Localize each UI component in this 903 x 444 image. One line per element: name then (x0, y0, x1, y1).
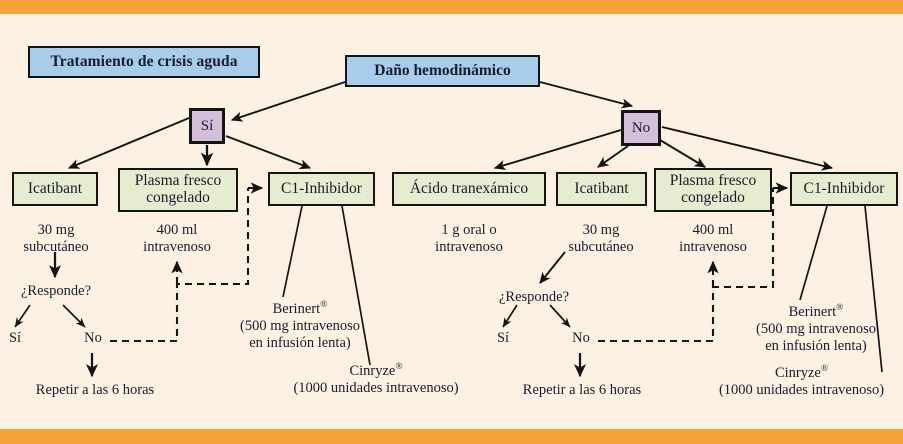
dose-plasma-right: 400 ml intravenoso (663, 222, 763, 256)
berinert-name-row: Berinert® (215, 301, 385, 318)
treatment-box-c1-inhibidor-left: C1-Inhibidor (268, 172, 375, 206)
edge-no-to-plasma (660, 140, 705, 167)
dose-plasma-left: 400 ml intravenoso (127, 222, 227, 256)
treatment-label-line1: Plasma fresco (670, 173, 757, 190)
edge-responde-no-right (550, 305, 570, 327)
edge-responde-no-left (63, 305, 85, 327)
leader-berinert-right (800, 206, 827, 300)
cinryze-detail: (1000 unidades intravenoso) (700, 382, 903, 399)
edge-responde-yes-right (503, 305, 517, 327)
root-text: Daño hemodinámico (374, 63, 511, 80)
registered-icon: ® (836, 303, 843, 313)
dose-line1: 400 ml (127, 222, 227, 239)
berinert-note-left: Berinert® (500 mg intravenoso en infusió… (215, 301, 385, 352)
berinert-detail-line1: (500 mg intravenoso (731, 321, 901, 338)
treatment-box-acido-tranexamico: Ácido tranexámico (392, 172, 546, 206)
edge-root-to-si (232, 82, 345, 120)
decision-no: No (621, 110, 661, 146)
edge-si-to-c1 (226, 136, 310, 168)
treatment-label: C1-Inhibidor (281, 181, 362, 198)
treatment-label-line1: Plasma fresco (135, 173, 222, 190)
edge-no-to-c1 (662, 127, 832, 168)
repeat-label-right: Repetir a las 6 horas (512, 382, 652, 399)
title-text: Tratamiento de crisis aguda (50, 54, 237, 71)
treatment-box-plasma-right: Plasma fresco congelado (654, 168, 772, 212)
dose-line2: subcutáneo (551, 239, 651, 256)
cinryze-detail: (1000 unidades intravenoso) (276, 380, 476, 397)
dose-line2: intravenoso (417, 239, 521, 256)
dose-line1: 30 mg (551, 222, 651, 239)
cinryze-name-row: Cinryze® (700, 365, 903, 382)
bottom-accent-bar (0, 429, 903, 444)
treatment-box-plasma-left: Plasma fresco congelado (118, 168, 238, 212)
berinert-detail-line2: en infusión lenta) (731, 338, 901, 355)
dose-line1: 1 g oral o (417, 222, 521, 239)
responde-label-right: ¿Responde? (482, 289, 586, 306)
dose-line2: subcutáneo (6, 239, 106, 256)
flowchart-canvas: Tratamiento de crisis aguda Daño hemodin… (0, 0, 903, 444)
dose-line1: 400 ml (663, 222, 763, 239)
berinert-name-row: Berinert® (731, 304, 901, 321)
decision-no-label: No (632, 120, 650, 136)
registered-icon: ® (821, 364, 828, 374)
registered-icon: ® (320, 300, 327, 310)
cinryze-note-right: Cinryze® (1000 unidades intravenoso) (700, 365, 903, 399)
top-accent-bar (0, 0, 903, 14)
treatment-box-c1-inhibidor-right: C1-Inhibidor (790, 172, 898, 206)
edge-no-to-icatibant (598, 146, 628, 167)
berinert-name: Berinert (273, 301, 321, 317)
edge-no-to-tranexamico (495, 130, 621, 168)
treatment-label: Icatibant (28, 181, 82, 198)
cinryze-name-row: Cinryze® (276, 363, 476, 380)
dose-icatibant-left: 30 mg subcutáneo (6, 222, 106, 256)
decision-si-label: Sí (201, 118, 214, 134)
root-box-dano-hemodinamico: Daño hemodinámico (345, 55, 540, 87)
edge-root-to-no (540, 82, 632, 106)
treatment-label: Icatibant (574, 181, 628, 198)
responde-no-right: No (565, 330, 597, 347)
treatment-label: Ácido tranexámico (410, 181, 528, 198)
edge-responde-yes-left (15, 305, 30, 327)
repeat-label-left: Repetir a las 6 horas (25, 382, 165, 399)
berinert-detail-line2: en infusión lenta) (215, 335, 385, 352)
berinert-name: Berinert (789, 304, 837, 320)
decision-si: Sí (189, 108, 225, 144)
dose-line2: intravenoso (663, 239, 763, 256)
responde-yes-right: Sí (489, 330, 517, 347)
treatment-box-icatibant-left: Icatibant (12, 172, 98, 206)
cinryze-name: Cinryze (349, 363, 395, 379)
leader-berinert-left (283, 206, 302, 297)
title-box: Tratamiento de crisis aguda (28, 46, 260, 78)
cinryze-name: Cinryze (775, 365, 821, 381)
treatment-label-line2: congelado (146, 190, 210, 207)
treatment-box-icatibant-right: Icatibant (556, 172, 647, 206)
registered-icon: ® (395, 362, 402, 372)
treatment-label-line2: congelado (681, 190, 745, 207)
edge-si-to-icatibant (69, 118, 189, 168)
dose-line1: 30 mg (6, 222, 106, 239)
berinert-note-right: Berinert® (500 mg intravenoso en infusió… (731, 304, 901, 355)
dose-acido-tranexamico: 1 g oral o intravenoso (417, 222, 521, 256)
responde-yes-left: Sí (1, 330, 29, 347)
berinert-detail-line1: (500 mg intravenoso (215, 318, 385, 335)
responde-label-left: ¿Responde? (4, 283, 108, 300)
responde-no-left: No (77, 330, 109, 347)
dose-icatibant-right: 30 mg subcutáneo (551, 222, 651, 256)
cinryze-note-left: Cinryze® (1000 unidades intravenoso) (276, 363, 476, 397)
treatment-label: C1-Inhibidor (804, 181, 885, 198)
edge-dose-to-responde-right (540, 252, 565, 283)
dose-line2: intravenoso (127, 239, 227, 256)
